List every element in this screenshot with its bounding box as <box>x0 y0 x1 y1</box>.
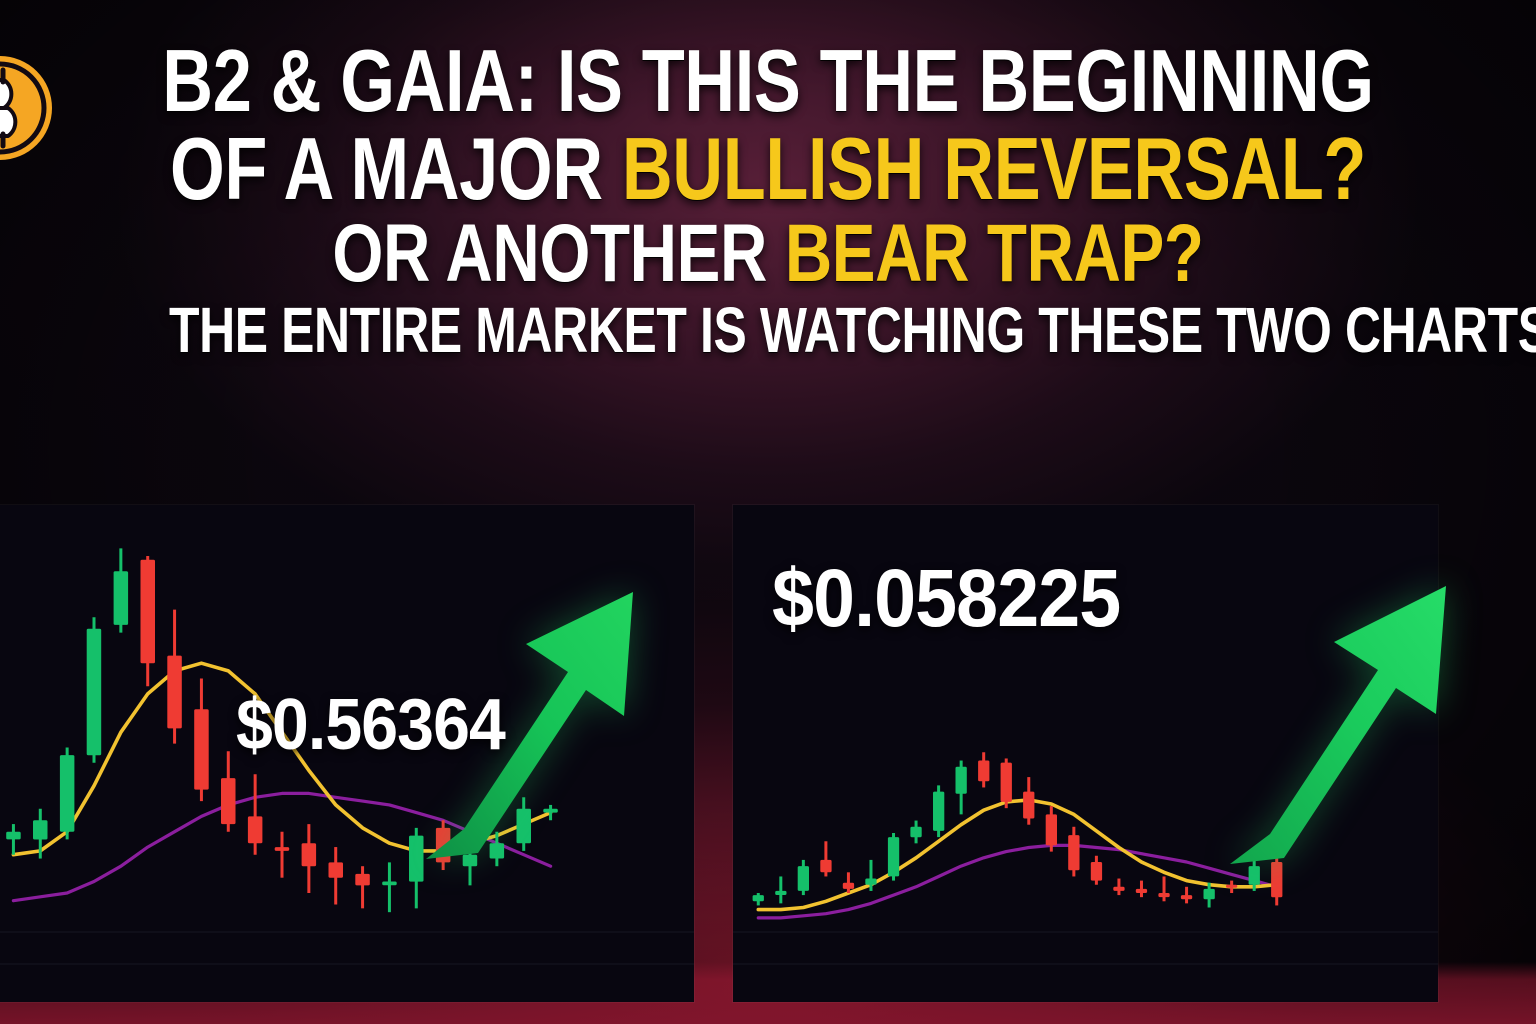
thumbnail-canvas: B2 & GAIA: IS THIS THE BEGINNING OF A MA… <box>0 0 1536 1024</box>
bitcoin-coin-icon <box>0 48 66 166</box>
price-label-left: $0.56364 <box>236 684 505 766</box>
price-label-right: $0.058225 <box>772 552 1120 646</box>
up-arrow-icon-right <box>1222 572 1462 882</box>
